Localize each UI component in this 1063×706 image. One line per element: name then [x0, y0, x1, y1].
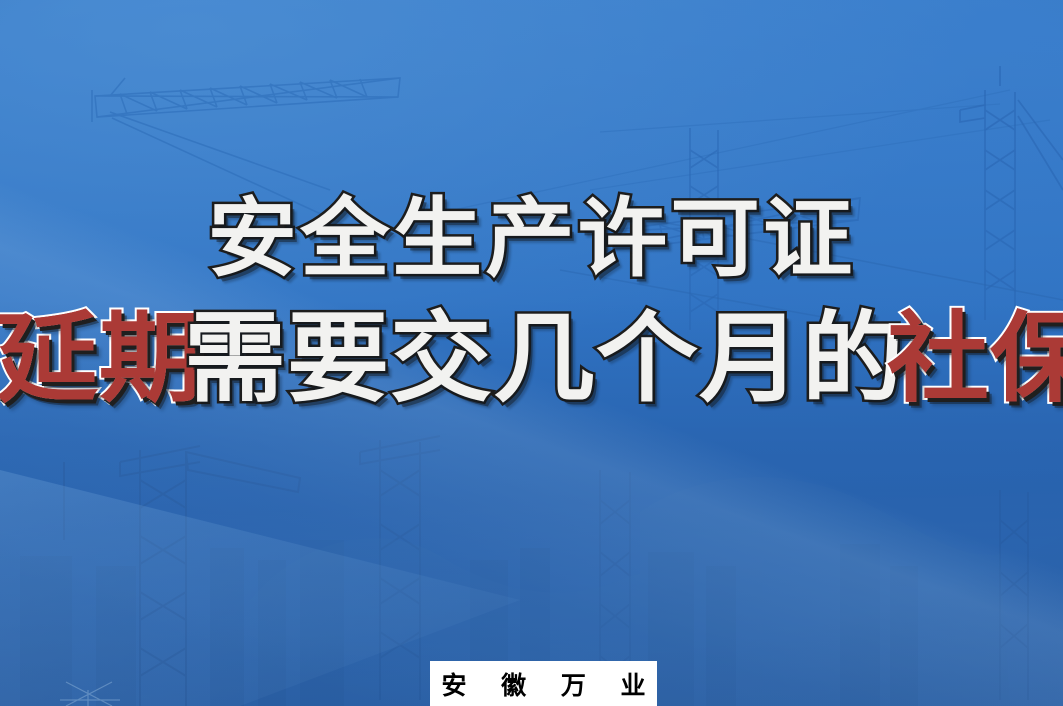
headline-line2-middle: 需要交几个月的	[184, 310, 905, 408]
headline-line2-highlight-left: 延期	[0, 310, 202, 408]
poster-canvas: 安全生产许可证 延期需要交几个月的社保 安 徽 万 业	[0, 0, 1063, 706]
lens-flare-starburst	[60, 682, 120, 706]
crane-tower-farright	[600, 470, 1028, 700]
headline-line-1: 安全生产许可证	[0, 196, 1063, 282]
brand-badge-text: 安 徽 万 业	[428, 666, 658, 702]
headline-block: 安全生产许可证 延期需要交几个月的社保	[0, 196, 1063, 408]
headline-line-2: 延期需要交几个月的社保	[0, 310, 1063, 408]
crane-tower-lowerright	[360, 436, 440, 700]
crane-tower-lowerleft	[64, 446, 300, 706]
headline-line2-highlight-right: 社保	[887, 310, 1063, 408]
brand-badge: 安 徽 万 业	[430, 661, 657, 706]
headline-line1-text: 安全生产许可证	[208, 196, 856, 282]
